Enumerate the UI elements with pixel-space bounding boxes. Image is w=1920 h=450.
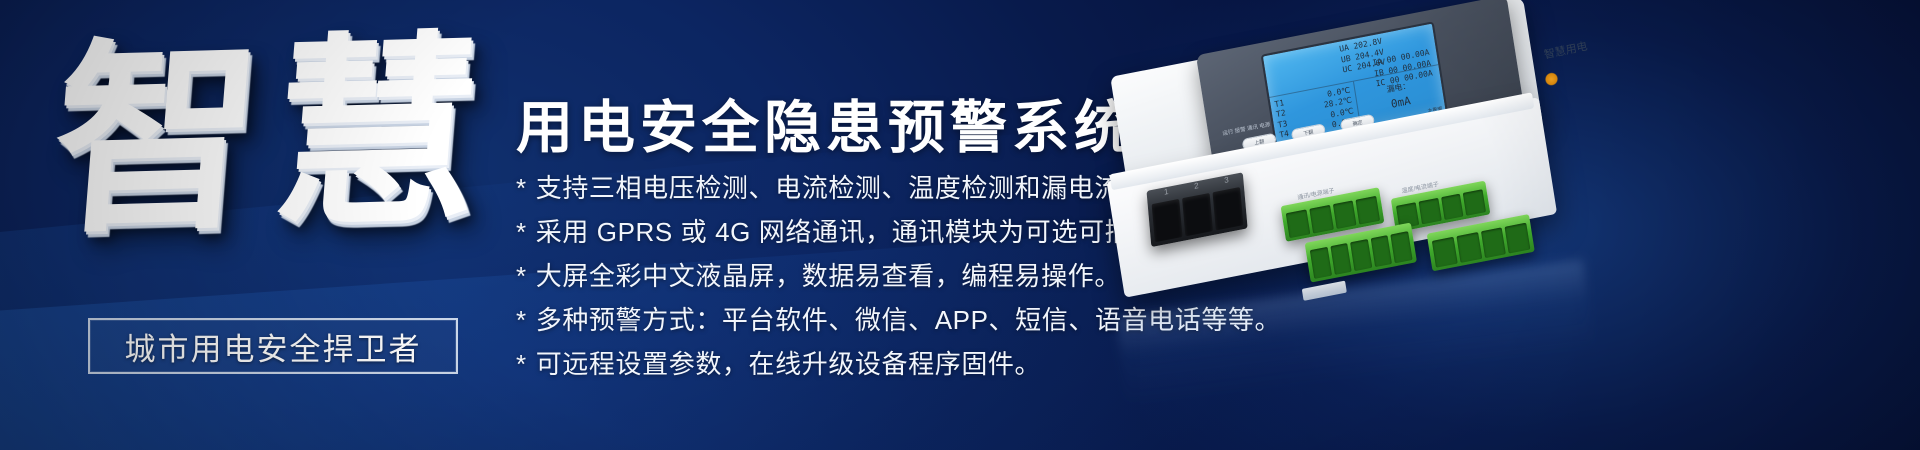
connector-number-2: 2 [1194,181,1199,191]
promo-banner: 智慧 城市用电安全捍卫者 用电安全隐患预警系统 * 支持三相电压检测、电流检测、… [0,0,1920,450]
device-brand-label: 智慧用电 [1543,38,1589,63]
sun-icon [1544,71,1559,86]
tagline-text: 城市用电安全捍卫者 [125,324,422,369]
bullet-icon: * [516,349,527,380]
tagline-box: 城市用电安全捍卫者 [88,318,458,374]
connector-number-1: 1 [1164,187,1169,197]
connector-number-3: 3 [1224,175,1229,185]
list-item-label: 采用 GPRS 或 4G 网络通讯，通讯模块为可选可插拔。 [536,212,1185,249]
list-item-label: 大屏全彩中文液晶屏，数据易查看，编程易操作。 [536,256,1121,293]
bullet-icon: * [516,305,527,336]
bullet-icon: * [516,217,527,248]
bullet-icon: * [516,173,527,204]
calligraphy-block: 智慧 [64,22,494,297]
page-title: 用电安全隐患预警系统 [516,82,1136,164]
product-device-image: UA 202.8V UB 204.4V UC 204.6V IA 00 00.0… [1075,0,1640,375]
list-item-label: 可远程设置参数，在线升级设备程序固件。 [536,344,1041,381]
calligraphy-text: 智慧 [45,11,495,262]
bullet-icon: * [516,261,527,292]
device-din-clip [1302,281,1347,301]
